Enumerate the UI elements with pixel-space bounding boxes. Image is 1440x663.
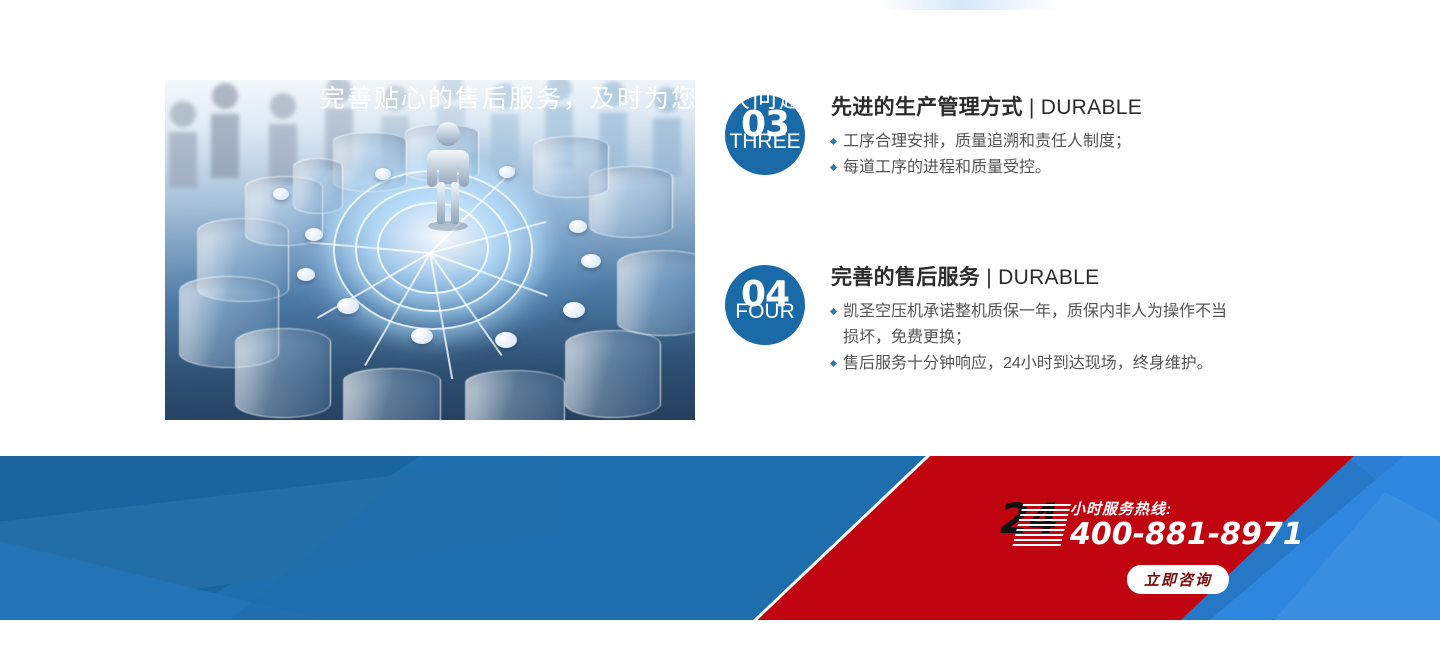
list-item: 售后服务十分钟响应，24小时到达现场，终身维护。 [831,351,1241,377]
feature-bullets-03: 工序合理安排，质量追溯和责任人制度； 每道工序的进程和质量受控。 [831,129,1142,181]
list-item: 工序合理安排，质量追溯和责任人制度； [831,129,1142,155]
hotline-row: 24 小时服务热线: 400-881-8971 [1000,500,1304,552]
diamond-bullet-icon [830,308,837,315]
connector-node [411,328,433,344]
connector-node [495,332,517,348]
feature-bullets-04: 凯圣空压机承诺整机质保一年，质保内非人为操作不当损坏，免费更换； 售后服务十分钟… [831,299,1241,377]
connector-node [337,298,359,314]
node-cylinder [343,368,441,420]
connector-node [499,166,515,178]
bullet-text: 售后服务十分钟响应，24小时到达现场，终身维护。 [843,355,1213,372]
node-cylinder [565,330,661,418]
node-cylinder [533,136,609,198]
diamond-bullet-icon [830,138,837,145]
consult-now-button[interactable]: 立即咨询 [1127,565,1229,594]
slogan-line-1: 专业提供空压机系统全套解决方案 [232,40,912,80]
connector-node [581,254,601,268]
badge-word: THREE [725,131,805,152]
bullet-text: 凯圣空压机承诺整机质保一年，质保内非人为操作不当损坏，免费更换； [843,303,1227,346]
diamond-bullet-icon [830,360,837,367]
feature-title-04: 完善的售后服务 | DURABLE [831,265,1241,290]
hero-network-image [165,80,695,420]
list-item: 凯圣空压机承诺整机质保一年，质保内非人为操作不当损坏，免费更换； [831,299,1241,351]
feature-title-sep: | [980,266,998,289]
diamond-bullet-icon [830,164,837,171]
connector-node [563,302,585,318]
list-item: 每道工序的进程和质量受控。 [831,155,1142,181]
node-cylinder [235,328,331,418]
bullet-text: 工序合理安排，质量追溯和责任人制度； [843,133,1131,150]
page-root: 03 THREE 先进的生产管理方式 | DURABLE 工序合理安排，质量追溯… [0,0,1440,663]
connector-node [297,268,315,281]
badge-word: FOUR [725,301,805,322]
hotline-block: 24 小时服务热线: 400-881-8971 [1000,500,1304,552]
node-cylinder [293,158,343,214]
feature-title-sep: | [1023,96,1041,119]
stripe-overlay-icon [1013,502,1072,546]
node-cylinder [465,370,565,420]
slogan-line-2: 完善贴心的售后服务，及时为您解决问题 [232,80,912,120]
feature-title-cn: 完善的售后服务 [831,266,980,289]
hotline-number: 400-881-8971 [1070,518,1304,553]
feature-item-04: 04 FOUR 完善的售后服务 | DURABLE 凯圣空压机承诺整机质保一年，… [725,265,1241,377]
connector-node [569,220,587,233]
24-hour-logo-icon: 24 [1000,500,1066,552]
hotline-label: 小时服务热线: [1070,502,1304,518]
node-cylinder [617,250,695,336]
hotline-text: 小时服务热线: 400-881-8971 [1070,502,1304,552]
connector-node [305,228,323,241]
badge-04: 04 FOUR [725,265,805,345]
connector-node [273,188,289,200]
feature-text-04: 完善的售后服务 | DURABLE 凯圣空压机承诺整机质保一年，质保内非人为操作… [831,265,1241,377]
footer-whitespace [0,620,1440,663]
bullet-text: 每道工序的进程和质量受控。 [843,159,1051,176]
banner-slogan: 专业提供空压机系统全套解决方案 完善贴心的售后服务，及时为您解决问题 [232,40,912,119]
feature-title-en: DURABLE [1041,96,1142,119]
feature-title-en: DURABLE [998,266,1099,289]
connector-node [375,168,391,180]
